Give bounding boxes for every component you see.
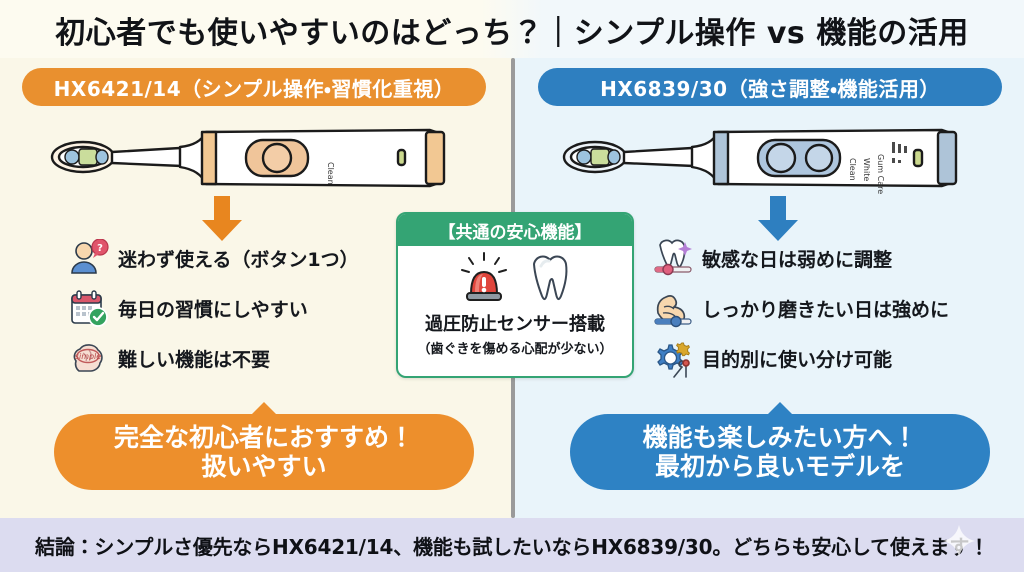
right-feature-item-2: しっかり磨きたい日は強めに — [650, 286, 1024, 330]
sparkle-icon — [942, 524, 976, 558]
right-feature-label-1: 敏感な日は弱めに調整 — [702, 245, 892, 272]
right-feature-label-3: 目的別に使い分け可能 — [702, 345, 892, 372]
person-question-icon: ? — [66, 237, 112, 279]
left-feature-list: ? 迷わず使える（ボタン1つ） — [66, 236, 446, 386]
right-feature-item-1: 敏感な日は弱めに調整 — [650, 236, 1024, 280]
right-toothbrush-illustration: Clean White Gum Care — [562, 118, 982, 200]
right-brush-mode-label-3: Gum Care — [876, 154, 885, 194]
right-feature-item-3: 目的別に使い分け可能 — [650, 336, 1024, 380]
left-feature-label-2: 毎日の習慣にしやすい — [118, 295, 308, 322]
tooth-icon — [528, 250, 572, 308]
right-model-badge: HX6839/30（強さ調整・機能活用） — [538, 68, 1002, 106]
brain-simple-icon: simple — [66, 337, 112, 379]
right-cta-line-2: 最初から良いモデルを — [655, 452, 905, 482]
left-model-badge: HX6421/14（シンプル操作・習慣化重視） — [22, 68, 486, 106]
left-cta-line-1: 完全な初心者におすすめ！ — [114, 423, 414, 453]
right-feature-list: 敏感な日は弱めに調整 しっかり磨きたい日は強めに — [650, 236, 1024, 386]
common-safety-panel: 【共通の安心機能】 — [396, 212, 634, 378]
gear-tools-icon — [650, 337, 696, 379]
right-brush-mode-label-1: Clean — [848, 158, 857, 181]
left-feature-label-3: 難しい機能は不要 — [118, 345, 270, 372]
svg-text:?: ? — [97, 243, 103, 254]
left-toothbrush-illustration: Clean — [50, 118, 470, 200]
right-cta-callout: 機能も楽しみたい方へ！ 最初から良いモデルを — [570, 414, 990, 490]
alarm-light-icon — [458, 250, 510, 308]
conclusion-bar: 結論：シンプルさ優先ならHX6421/14、機能も試したいならHX6839/30… — [0, 518, 1024, 572]
common-panel-icons — [398, 246, 632, 308]
infographic-root: 初心者でも使いやすいのはどっち？｜シンプル操作 vs 機能の活用 HX6421/… — [0, 0, 1024, 572]
right-feature-label-2: しっかり磨きたい日は強めに — [702, 295, 949, 322]
calendar-check-icon — [66, 287, 112, 329]
left-feature-label-1: 迷わず使える（ボタン1つ） — [118, 245, 359, 272]
right-brush-mode-label-2: White — [862, 158, 871, 181]
left-feature-item-2: 毎日の習慣にしやすい — [66, 286, 446, 330]
common-panel-sub-text: （歯ぐきを傷める心配が少ない） — [398, 338, 632, 357]
right-cta-line-1: 機能も楽しみたい方へ！ — [642, 423, 917, 453]
conclusion-text: 結論：シンプルさ優先ならHX6421/14、機能も試したいならHX6839/30… — [35, 531, 989, 560]
muscle-slider-icon — [650, 287, 696, 329]
common-panel-main-text: 過圧防止センサー搭載 — [398, 310, 632, 336]
tooth-sparkle-slider-icon — [650, 237, 696, 279]
left-brush-mode-label: Clean — [326, 162, 335, 185]
left-cta-callout: 完全な初心者におすすめ！ 扱いやすい — [54, 414, 474, 490]
page-title: 初心者でも使いやすいのはどっち？｜シンプル操作 vs 機能の活用 — [0, 8, 1024, 52]
left-feature-item-3: simple 難しい機能は不要 — [66, 336, 446, 380]
left-cta-line-2: 扱いやすい — [201, 452, 326, 482]
common-panel-header: 【共通の安心機能】 — [398, 214, 632, 246]
svg-text:simple: simple — [75, 352, 101, 361]
left-feature-item-1: ? 迷わず使える（ボタン1つ） — [66, 236, 446, 280]
